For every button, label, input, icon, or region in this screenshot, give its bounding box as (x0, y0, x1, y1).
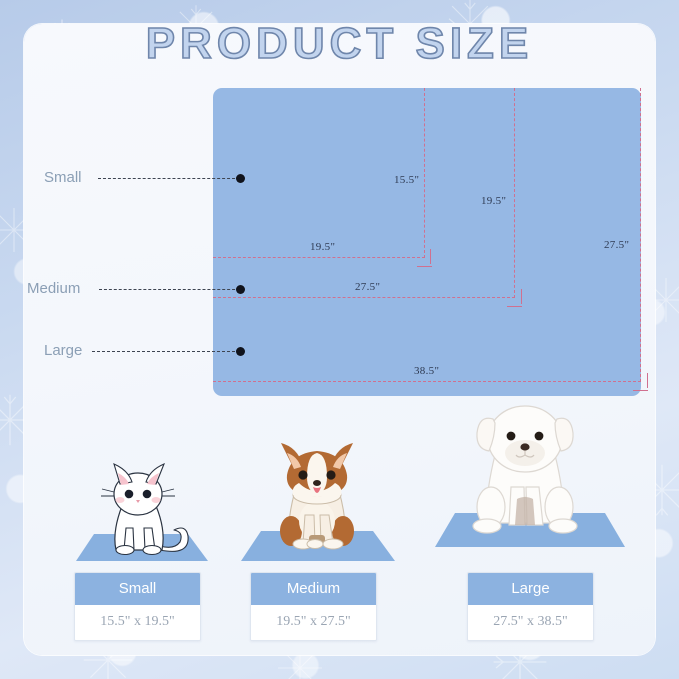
size-card-small[interactable]: Small 15.5" x 19.5" (74, 572, 201, 641)
leader-dot-large (236, 347, 245, 356)
illustration-cat-small (72, 462, 212, 567)
dim-line-large-width (213, 381, 641, 382)
size-card-medium-title: Medium (251, 573, 376, 605)
leader-label-small: Small (44, 169, 82, 186)
leader-line-medium (99, 289, 240, 290)
nose (520, 443, 529, 450)
dim-line-large-height (640, 88, 641, 382)
illustration-dog-large (425, 395, 625, 555)
dim-text-medium-height: 19.5" (481, 195, 506, 207)
dim-text-small-width: 19.5" (310, 241, 335, 253)
dim-text-small-height: 15.5" (394, 174, 419, 186)
leader-line-large (92, 351, 240, 352)
dim-line-small-height (424, 88, 425, 258)
dim-line-medium-width (213, 297, 515, 298)
eye-right (143, 490, 152, 499)
dim-tick-medium-bottom (507, 306, 522, 307)
size-card-medium-value: 19.5" x 27.5" (251, 605, 376, 640)
size-card-medium[interactable]: Medium 19.5" x 27.5" (250, 572, 377, 641)
dim-tick-large-right (647, 373, 648, 388)
eye-left (298, 470, 307, 479)
dim-line-medium-height (514, 88, 515, 298)
dim-tick-medium-right (521, 289, 522, 304)
eye-left (507, 432, 516, 441)
eye-right (535, 432, 544, 441)
dim-text-medium-width: 27.5" (355, 281, 380, 293)
eye-right (326, 470, 335, 479)
dim-tick-small-right (430, 249, 431, 264)
dim-tick-small-bottom (417, 266, 432, 267)
dim-text-large-height: 27.5" (604, 239, 629, 251)
leader-dot-medium (236, 285, 245, 294)
size-card-small-value: 15.5" x 19.5" (75, 605, 200, 640)
size-card-large-title: Large (468, 573, 593, 605)
leader-label-large: Large (44, 342, 82, 359)
infographic-stage: PRODUCT SIZE 19.5" 15.5" 27.5" 19.5" 38.… (0, 0, 679, 679)
illustration-dog-medium (237, 443, 397, 568)
size-card-small-title: Small (75, 573, 200, 605)
dim-tick-large-bottom (633, 390, 648, 391)
dim-text-large-width: 38.5" (414, 365, 439, 377)
leader-line-small (98, 178, 240, 179)
size-card-large[interactable]: Large 27.5" x 38.5" (467, 572, 594, 641)
eye-left (125, 490, 134, 499)
leader-label-medium: Medium (27, 280, 80, 297)
product-pad-rectangle (213, 88, 641, 396)
dim-line-small-width (213, 257, 425, 258)
page-title: PRODUCT SIZE (0, 22, 679, 66)
leader-dot-small (236, 174, 245, 183)
size-card-large-value: 27.5" x 38.5" (468, 605, 593, 640)
nose (313, 480, 321, 486)
